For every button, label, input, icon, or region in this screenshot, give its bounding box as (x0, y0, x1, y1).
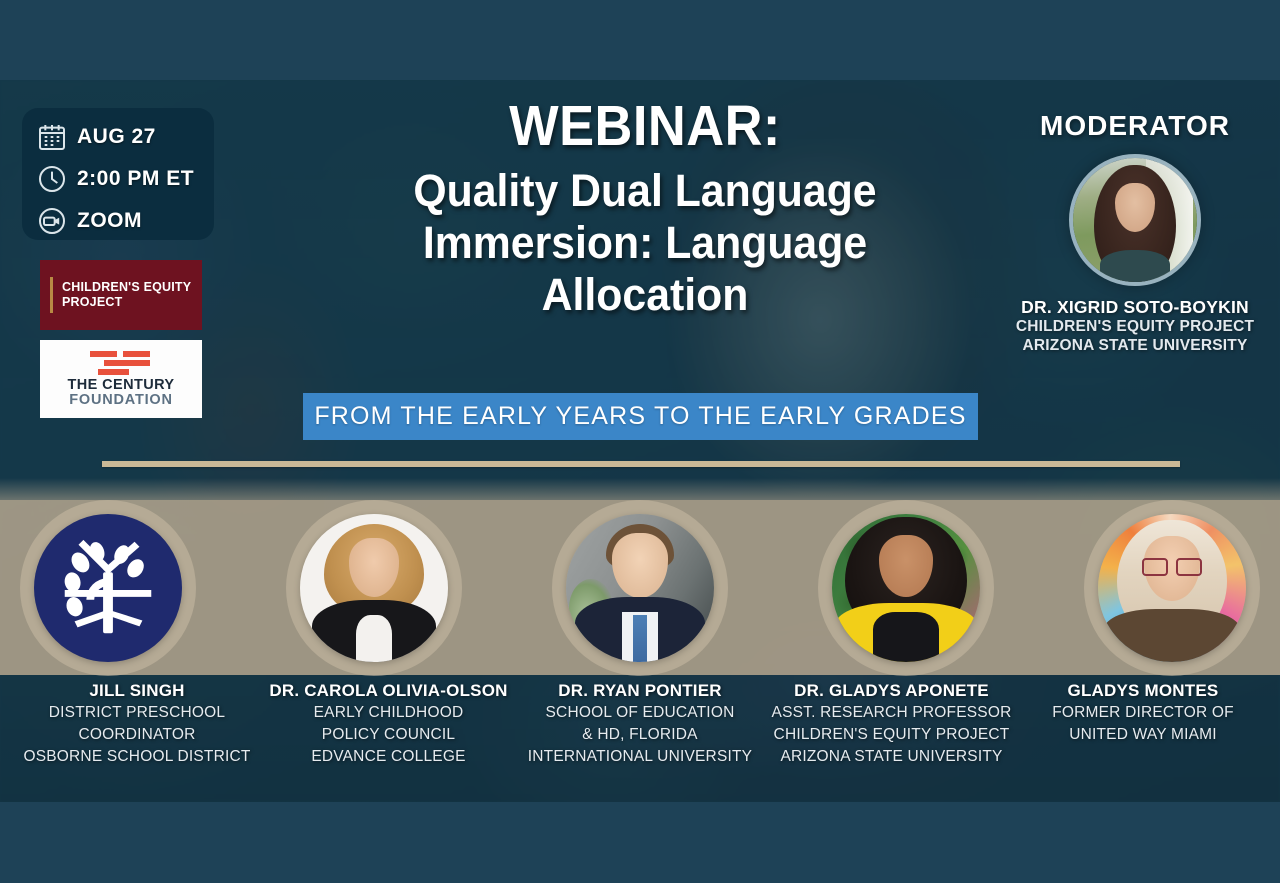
speaker-name: DR. RYAN PONTIER (517, 680, 763, 701)
clock-icon (36, 163, 68, 195)
info-row-time: 2:00 PM ET (22, 158, 214, 200)
speaker-caption-4: DR. GLADYS APONETE ASST. RESEARCH PROFES… (769, 680, 1015, 767)
speaker-affiliation-line1: EARLY CHILDHOOD (266, 703, 512, 723)
moderator-affiliation-line1: CHILDREN'S EQUITY PROJECT (1010, 318, 1260, 337)
speaker-affiliation-line2: CHILDREN'S EQUITY PROJECT (769, 725, 1015, 745)
childrens-equity-project-logo: CHILDREN'S EQUITY PROJECT (40, 260, 202, 330)
info-row-platform: ZOOM (22, 200, 214, 242)
speaker-photo-ryan-pontier (566, 514, 714, 662)
speaker-avatar-3 (562, 500, 718, 676)
speaker-affiliation-line1: FORMER DIRECTOR OF (1020, 703, 1266, 723)
speaker-name: GLADYS MONTES (1020, 680, 1266, 701)
event-time: 2:00 PM ET (77, 167, 194, 191)
osborne-school-tree-logo (34, 514, 182, 662)
tcf-bars-icon (90, 349, 152, 375)
calendar-icon (36, 121, 68, 153)
speaker-photos-row (0, 498, 1280, 678)
cep-logo-line1: CHILDREN'S EQUITY (62, 280, 191, 294)
webinar-title-line2: Immersion: Language (317, 217, 973, 269)
flyer-canvas: AUG 27 2:00 PM ET (0, 80, 1280, 802)
speaker-caption-2: DR. CAROLA OLIVIA-OLSON EARLY CHILDHOOD … (266, 680, 512, 767)
info-row-date: AUG 27 (22, 116, 214, 158)
event-platform: ZOOM (77, 209, 142, 233)
moderator-photo (1073, 158, 1197, 282)
speaker-affiliation-line2: UNITED WAY MIAMI (1020, 725, 1266, 745)
eyeglasses-icon (1142, 558, 1201, 576)
speaker-affiliation-line2: POLICY COUNCIL (266, 725, 512, 745)
speaker-photo-carola-olivia-olson (300, 514, 448, 662)
cep-logo-line2: PROJECT (62, 295, 122, 309)
webinar-title-line1: Quality Dual Language (317, 165, 973, 217)
event-date: AUG 27 (77, 125, 156, 149)
event-info-box: AUG 27 2:00 PM ET (22, 108, 214, 240)
webinar-flyer: AUG 27 2:00 PM ET (0, 0, 1280, 883)
speaker-caption-3: DR. RYAN PONTIER SCHOOL OF EDUCATION & H… (517, 680, 763, 767)
speaker-avatar-5 (1094, 500, 1250, 676)
speaker-affiliation-line2: & HD, FLORIDA (517, 725, 763, 745)
title-block: WEBINAR: Quality Dual Language Immersion… (300, 98, 990, 322)
tree-icon (49, 529, 167, 647)
speaker-name: DR. CAROLA OLIVIA-OLSON (266, 680, 512, 701)
speaker-photo-gladys-montes (1098, 514, 1246, 662)
tagline-text: FROM THE EARLY YEARS TO THE EARLY GRADES (314, 402, 966, 431)
moderator-avatar (1069, 154, 1201, 286)
moderator-affiliation-line2: ARIZONA STATE UNIVERSITY (1010, 337, 1260, 356)
speaker-affiliation-line1: DISTRICT PRESCHOOL (14, 703, 260, 723)
moderator-label: MODERATOR (1010, 110, 1260, 142)
speaker-name: DR. GLADYS APONETE (769, 680, 1015, 701)
video-camera-icon (36, 205, 68, 237)
speaker-affiliation-line3: EDVANCE COLLEGE (266, 747, 512, 767)
tcf-logo-line1: THE CENTURY (68, 378, 175, 393)
speaker-photo-gladys-aponete (832, 514, 980, 662)
speaker-avatar-2 (296, 500, 452, 676)
speaker-affiliation-line1: ASST. RESEARCH PROFESSOR (769, 703, 1015, 723)
webinar-title: Quality Dual Language Immersion: Languag… (317, 165, 973, 322)
tagline-banner: FROM THE EARLY YEARS TO THE EARLY GRADES (303, 393, 978, 440)
moderator-block: MODERATOR DR. XIGRID SOTO-BOYKIN CHILDRE… (1010, 110, 1260, 356)
logo-accent-bar (50, 277, 53, 313)
speaker-affiliation-line1: SCHOOL OF EDUCATION (517, 703, 763, 723)
century-foundation-logo: THE CENTURY FOUNDATION (40, 340, 202, 418)
tcf-logo-line2: FOUNDATION (69, 393, 173, 409)
horizontal-divider (102, 461, 1180, 467)
speaker-affiliation-line2: COORDINATOR (14, 725, 260, 745)
speaker-captions-row: JILL SINGH DISTRICT PRESCHOOL COORDINATO… (0, 680, 1280, 767)
speaker-avatar-1 (30, 500, 186, 676)
webinar-title-line3: Allocation (317, 269, 973, 321)
speaker-caption-5: GLADYS MONTES FORMER DIRECTOR OF UNITED … (1020, 680, 1266, 767)
webinar-eyebrow: WEBINAR: (328, 98, 963, 155)
speaker-name: JILL SINGH (14, 680, 260, 701)
speaker-avatar-4 (828, 500, 984, 676)
speaker-affiliation-line3: ARIZONA STATE UNIVERSITY (769, 747, 1015, 767)
cep-logo-text: CHILDREN'S EQUITY PROJECT (62, 280, 191, 311)
speaker-caption-1: JILL SINGH DISTRICT PRESCHOOL COORDINATO… (14, 680, 260, 767)
speaker-affiliation-line3: OSBORNE SCHOOL DISTRICT (14, 747, 260, 767)
speaker-affiliation-line3: INTERNATIONAL UNIVERSITY (517, 747, 763, 767)
moderator-name: DR. XIGRID SOTO-BOYKIN (1010, 297, 1260, 318)
